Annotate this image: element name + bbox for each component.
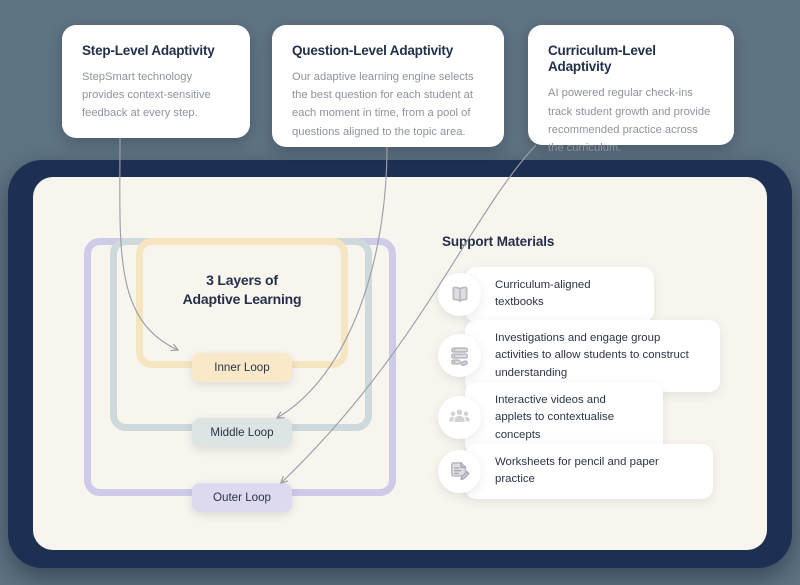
card-title: Step-Level Adaptivity: [82, 43, 230, 59]
diagram-heading-line-2: Adaptive Learning: [136, 290, 348, 309]
card-step-level-adaptivity[interactable]: Step-Level Adaptivity StepSmart technolo…: [62, 25, 250, 138]
support-materials-heading: Support Materials: [442, 234, 554, 249]
open-book-icon: [438, 273, 481, 316]
main-panel-content: 3 Layers of Adaptive Learning Inner Loop…: [33, 177, 767, 550]
support-item-worksheets[interactable]: Worksheets for pencil and paper practice: [438, 444, 713, 499]
diagram-canvas: 3 Layers of Adaptive Learning Inner Loop…: [0, 0, 800, 585]
card-body: AI powered regular check-ins track stude…: [548, 84, 714, 157]
inner-loop-pill[interactable]: Inner Loop: [192, 353, 292, 382]
card-question-level-adaptivity[interactable]: Question-Level Adaptivity Our adaptive l…: [272, 25, 504, 147]
support-item-label: Curriculum-aligned textbooks: [465, 267, 654, 322]
card-title: Curriculum-Level Adaptivity: [548, 43, 714, 75]
main-panel: 3 Layers of Adaptive Learning Inner Loop…: [8, 160, 792, 568]
outer-loop-label: Outer Loop: [213, 491, 271, 504]
middle-loop-pill[interactable]: Middle Loop: [192, 418, 292, 447]
card-curriculum-level-adaptivity[interactable]: Curriculum-Level Adaptivity AI powered r…: [528, 25, 734, 145]
card-body: StepSmart technology provides context-se…: [82, 68, 230, 122]
inner-loop-label: Inner Loop: [214, 361, 269, 374]
card-title: Question-Level Adaptivity: [292, 43, 484, 59]
outer-loop-pill[interactable]: Outer Loop: [192, 483, 292, 512]
support-item-label: Worksheets for pencil and paper practice: [465, 444, 713, 499]
support-item-textbooks[interactable]: Curriculum-aligned textbooks: [438, 267, 654, 322]
middle-loop-label: Middle Loop: [210, 426, 273, 439]
diagram-heading: 3 Layers of Adaptive Learning: [136, 271, 348, 310]
card-body: Our adaptive learning engine selects the…: [292, 68, 484, 141]
document-pencil-icon: [438, 450, 481, 493]
diagram-heading-line-1: 3 Layers of: [136, 271, 348, 290]
